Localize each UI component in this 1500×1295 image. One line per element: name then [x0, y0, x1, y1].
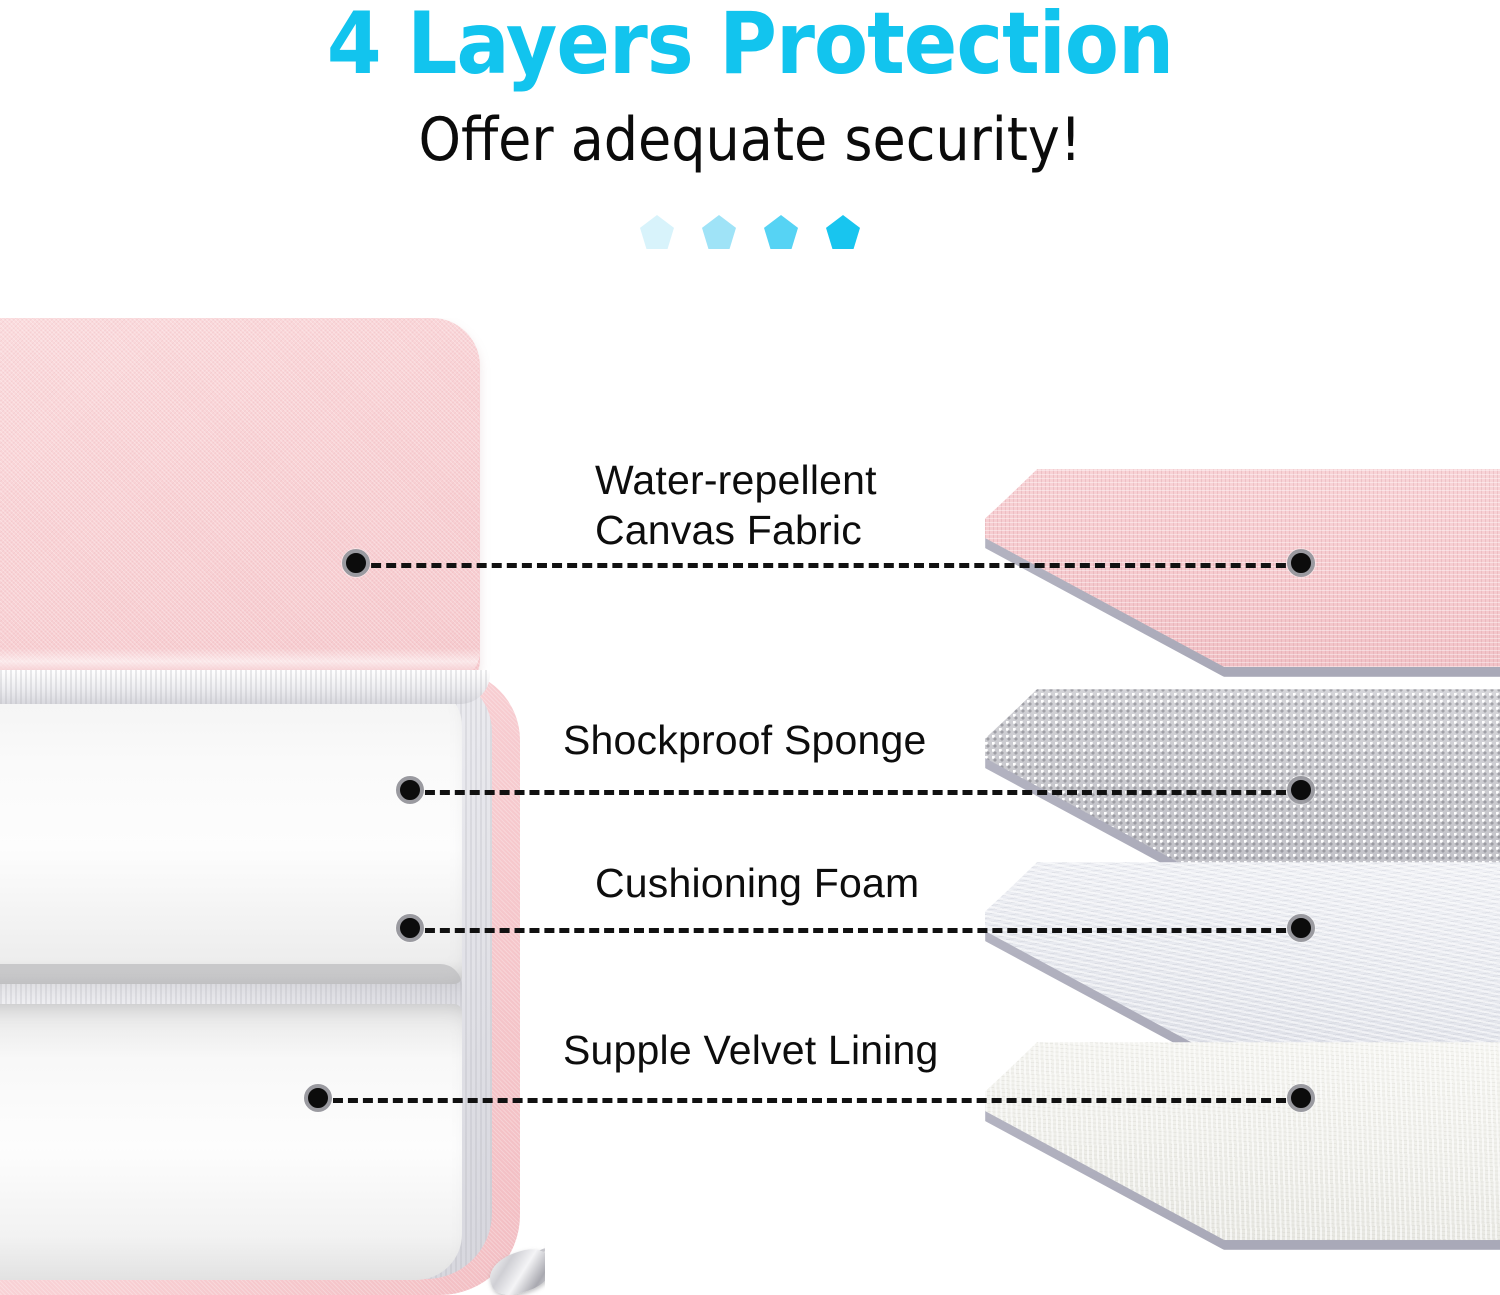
- callout-line-sponge: [410, 790, 1301, 795]
- callout-line-canvas: [356, 563, 1301, 568]
- callout-dot-canvas-left: [342, 549, 370, 577]
- callout-label-velvet: Supple Velvet Lining: [563, 1025, 939, 1075]
- laptop-sleeve-photo: [0, 318, 545, 1295]
- sleeve-flap-tape: [0, 670, 490, 704]
- callout-dot-canvas-right: [1287, 549, 1315, 577]
- pentagon-4-icon: [826, 215, 860, 249]
- callout-line-foam: [410, 928, 1301, 933]
- pentagon-divider: [0, 206, 1500, 258]
- page-title: 4 Layers Protection: [0, 0, 1500, 92]
- sleeve-velvet-lining-upper: [0, 684, 462, 984]
- pentagon-1-icon: [640, 215, 674, 249]
- callout-dot-foam-right: [1287, 914, 1315, 942]
- page-subtitle: Offer adequate security!: [0, 104, 1500, 176]
- callout-line-velvet: [318, 1098, 1301, 1103]
- header: 4 Layers Protection Offer adequate secur…: [0, 0, 1500, 270]
- layer-swatch-supple-velvet-lining: [985, 1025, 1500, 1240]
- callout-dot-sponge-right: [1287, 776, 1315, 804]
- callout-label-foam: Cushioning Foam: [595, 858, 919, 908]
- callout-dot-foam-left: [396, 914, 424, 942]
- callout-dot-velvet-left: [304, 1084, 332, 1112]
- callout-label-canvas: Water-repellent Canvas Fabric: [595, 455, 877, 555]
- pentagon-2-icon: [702, 215, 736, 249]
- pentagon-3-icon: [764, 215, 798, 249]
- callout-dot-sponge-left: [396, 776, 424, 804]
- callout-dot-velvet-right: [1287, 1084, 1315, 1112]
- layer-face-canvas: [985, 452, 1500, 667]
- callout-label-sponge: Shockproof Sponge: [563, 715, 927, 765]
- sleeve-velvet-lining-lower: [0, 1004, 462, 1280]
- layer-swatch-water-repellent-canvas-fabric: [985, 452, 1500, 667]
- sleeve-front-flap: [0, 318, 480, 690]
- layer-face-velvet: [985, 1025, 1500, 1240]
